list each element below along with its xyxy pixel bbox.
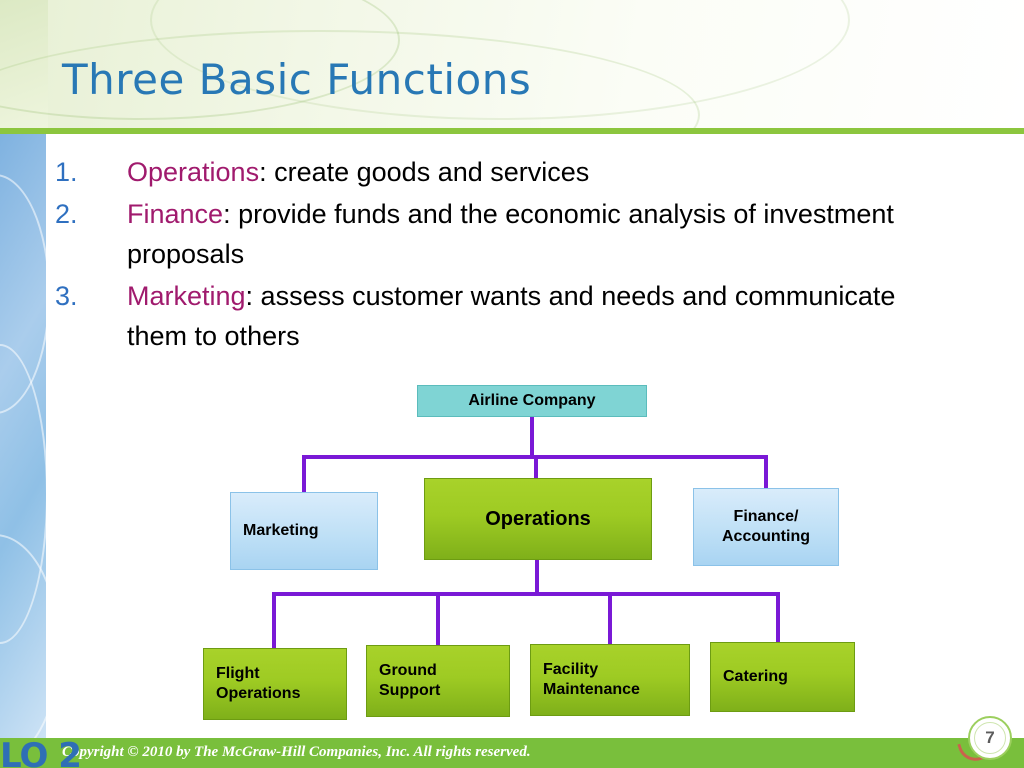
slide: Three Basic Functions 1. Operations: cre…: [0, 0, 1024, 768]
org-node-ground-line2: Support: [379, 681, 440, 701]
connector-vertical: [534, 455, 538, 480]
org-node-finance-accounting: Finance/ Accounting: [693, 488, 839, 566]
list-item-keyword: Finance: [127, 199, 223, 229]
bullet-list: 1. Operations: create goods and services…: [55, 152, 955, 358]
org-node-airline-company: Airline Company: [417, 385, 647, 417]
list-item-body: : provide funds and the economic analysi…: [127, 199, 894, 269]
org-node-operations: Operations: [424, 478, 652, 560]
list-item-number: 1.: [55, 152, 127, 192]
org-node-finance-line1: Finance/: [722, 507, 810, 527]
org-node-ground-line1: Ground: [379, 661, 440, 681]
connector-vertical: [776, 592, 780, 642]
copyright-text: Copyright © 2010 by The McGraw-Hill Comp…: [62, 744, 531, 761]
page-number: 7: [974, 722, 1006, 754]
org-node-marketing: Marketing: [230, 492, 378, 570]
list-item: 2. Finance: provide funds and the econom…: [55, 194, 955, 274]
list-item-text: Marketing: assess customer wants and nee…: [127, 276, 955, 356]
connector-vertical: [302, 455, 306, 494]
title-divider: [0, 128, 1024, 134]
list-item: 3. Marketing: assess customer wants and …: [55, 276, 955, 356]
connector-vertical: [272, 592, 276, 648]
org-node-catering: Catering: [710, 642, 855, 712]
learning-objective-badge: LO 2: [0, 736, 81, 768]
page-title: Three Basic Functions: [62, 55, 531, 104]
list-item-keyword: Operations: [127, 157, 259, 187]
org-node-flight-line2: Operations: [216, 684, 300, 704]
list-item-number: 3.: [55, 276, 127, 316]
org-node-facility-maintenance: Facility Maintenance: [530, 644, 690, 716]
connector-horizontal: [272, 592, 780, 596]
org-node-ground-support: Ground Support: [366, 645, 510, 717]
org-node-facility-line1: Facility: [543, 660, 640, 680]
page-number-badge: 7: [968, 716, 1012, 760]
connector-vertical: [535, 560, 539, 592]
connector-vertical: [608, 592, 612, 644]
org-node-flight-operations: Flight Operations: [203, 648, 347, 720]
list-item-text: Finance: provide funds and the economic …: [127, 194, 955, 274]
org-node-flight-line1: Flight: [216, 664, 300, 684]
org-node-facility-line2: Maintenance: [543, 680, 640, 700]
list-item-body: : create goods and services: [259, 157, 589, 187]
connector-vertical: [764, 455, 768, 490]
connector-vertical: [436, 592, 440, 645]
org-chart: Airline Company Marketing Operations Fin…: [0, 380, 1024, 730]
org-node-finance-line2: Accounting: [722, 527, 810, 547]
list-item: 1. Operations: create goods and services: [55, 152, 955, 192]
list-item-number: 2.: [55, 194, 127, 234]
list-item-text: Operations: create goods and services: [127, 152, 589, 192]
connector-vertical: [530, 417, 534, 455]
list-item-keyword: Marketing: [127, 281, 246, 311]
